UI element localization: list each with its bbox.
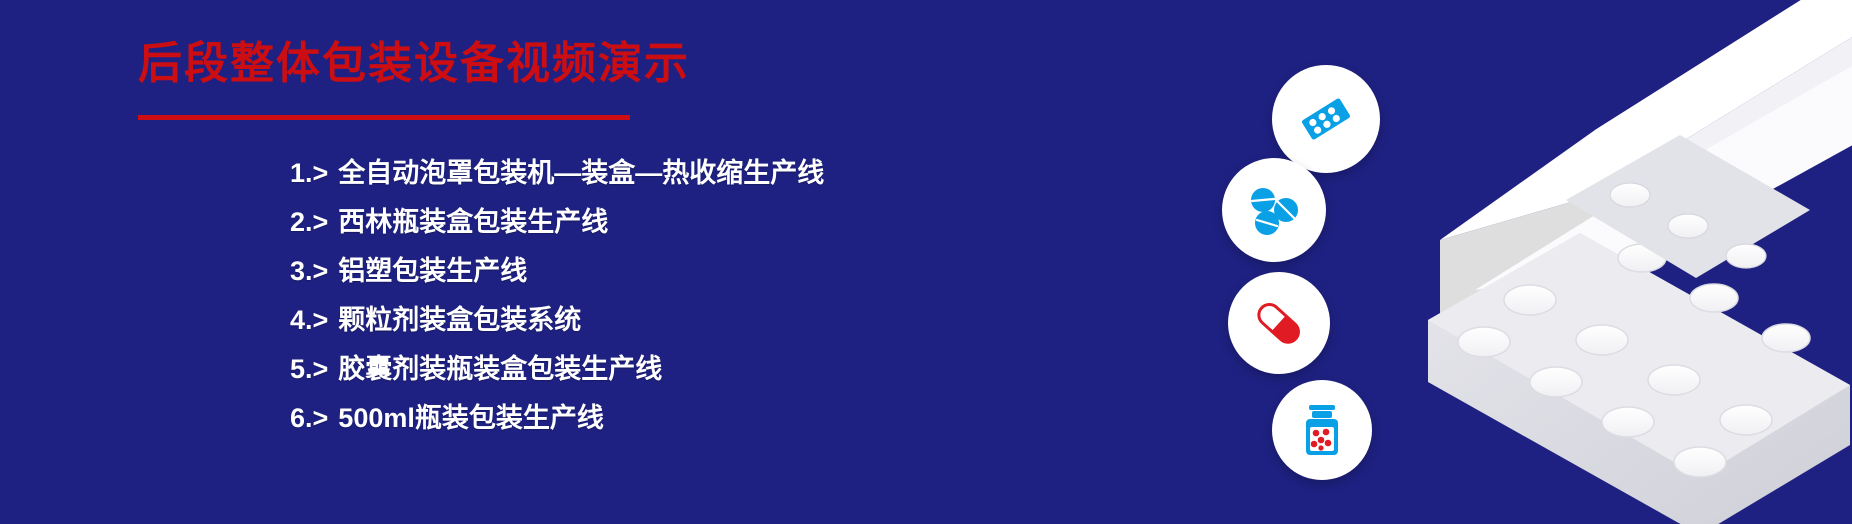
- tablets-icon: [1222, 158, 1326, 262]
- list-item-label: 500ml瓶装包装生产线: [338, 405, 604, 432]
- list-item-label: 颗粒剂装盒包装系统: [338, 307, 581, 334]
- pill-bottle-glyph: [1289, 397, 1355, 463]
- page-title: 后段整体包装设备视频演示: [138, 40, 690, 88]
- list-item-number: 1.>: [290, 160, 328, 187]
- text-column: 后段整体包装设备视频演示 1.> 全自动泡罩包装机—装盒—热收缩生产线 2.> …: [0, 0, 1000, 524]
- video-list: 1.> 全自动泡罩包装机—装盒—热收缩生产线 2.> 西林瓶装盒包装生产线 3.…: [290, 160, 990, 454]
- capsule-icon: [1228, 272, 1330, 374]
- blister-pack-glyph: [1290, 83, 1362, 155]
- list-item-label: 西林瓶装盒包装生产线: [338, 209, 608, 236]
- list-item[interactable]: 3.> 铝塑包装生产线: [290, 258, 990, 285]
- list-item-label: 全自动泡罩包装机—装盒—热收缩生产线: [338, 160, 824, 187]
- list-item-number: 4.>: [290, 307, 328, 334]
- list-item[interactable]: 4.> 颗粒剂装盒包装系统: [290, 307, 990, 334]
- list-item-number: 6.>: [290, 405, 328, 432]
- tablets-glyph: [1239, 175, 1309, 245]
- carton-blister-graphic: [1380, 0, 1852, 524]
- list-item-number: 3.>: [290, 258, 328, 285]
- pill-bottle-icon: [1272, 380, 1372, 480]
- list-item-number: 2.>: [290, 209, 328, 236]
- blister-pack-in-carton-illustration: [1380, 0, 1852, 524]
- blister-pack-icon: [1272, 65, 1380, 173]
- capsule-glyph: [1244, 288, 1314, 358]
- list-item[interactable]: 5.> 胶囊剂装瓶装盒包装生产线: [290, 356, 990, 383]
- list-item-label: 铝塑包装生产线: [338, 258, 527, 285]
- title-underline: [138, 115, 630, 120]
- list-item[interactable]: 2.> 西林瓶装盒包装生产线: [290, 209, 990, 236]
- list-item-label: 胶囊剂装瓶装盒包装生产线: [338, 356, 662, 383]
- list-item[interactable]: 1.> 全自动泡罩包装机—装盒—热收缩生产线: [290, 160, 990, 187]
- list-item[interactable]: 6.> 500ml瓶装包装生产线: [290, 405, 990, 432]
- list-item-number: 5.>: [290, 356, 328, 383]
- promo-banner: 后段整体包装设备视频演示 1.> 全自动泡罩包装机—装盒—热收缩生产线 2.> …: [0, 0, 1852, 524]
